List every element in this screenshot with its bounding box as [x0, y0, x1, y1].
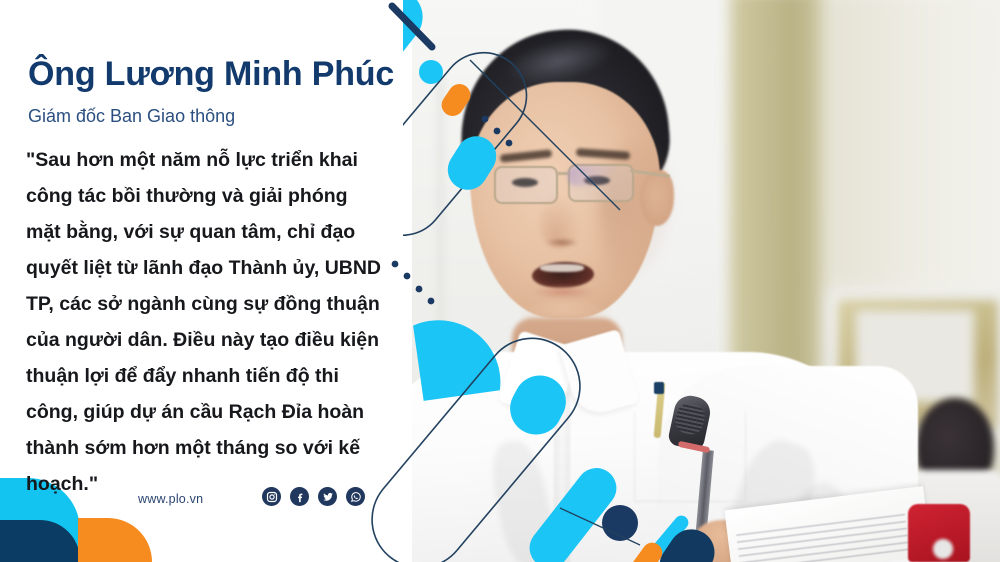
speaker-teeth	[540, 264, 584, 272]
instagram-icon[interactable]	[262, 487, 281, 506]
speaker-cheek-shadow	[598, 140, 676, 290]
speaker-lower-lip	[534, 286, 592, 298]
pen-clip	[654, 382, 664, 394]
quote-card: Ông Lương Minh Phúc Giám đốc Ban Giao th…	[0, 0, 1000, 562]
background-wall-bright	[812, 0, 1000, 290]
background-column	[730, 0, 822, 410]
twitter-icon[interactable]	[318, 487, 337, 506]
quote-content: Ông Lương Minh Phúc Giám đốc Ban Giao th…	[0, 0, 412, 562]
press-microphone-logo	[928, 536, 958, 562]
website-url[interactable]: www.plo.vn	[138, 492, 203, 506]
speaker-photo	[408, 0, 1000, 562]
speaker-nostril	[546, 238, 578, 247]
speaker-title: Giám đốc Ban Giao thông	[28, 106, 235, 127]
speaker-name: Ông Lương Minh Phúc	[28, 55, 394, 94]
glasses-glare	[568, 166, 630, 186]
whatsapp-icon[interactable]	[346, 487, 365, 506]
social-links	[262, 487, 365, 506]
quote-text: "Sau hơn một năm nỗ lực triển khai công …	[26, 142, 386, 502]
background-wall-edge	[438, 80, 443, 330]
facebook-icon[interactable]	[290, 487, 309, 506]
shirt-placket	[554, 392, 570, 562]
